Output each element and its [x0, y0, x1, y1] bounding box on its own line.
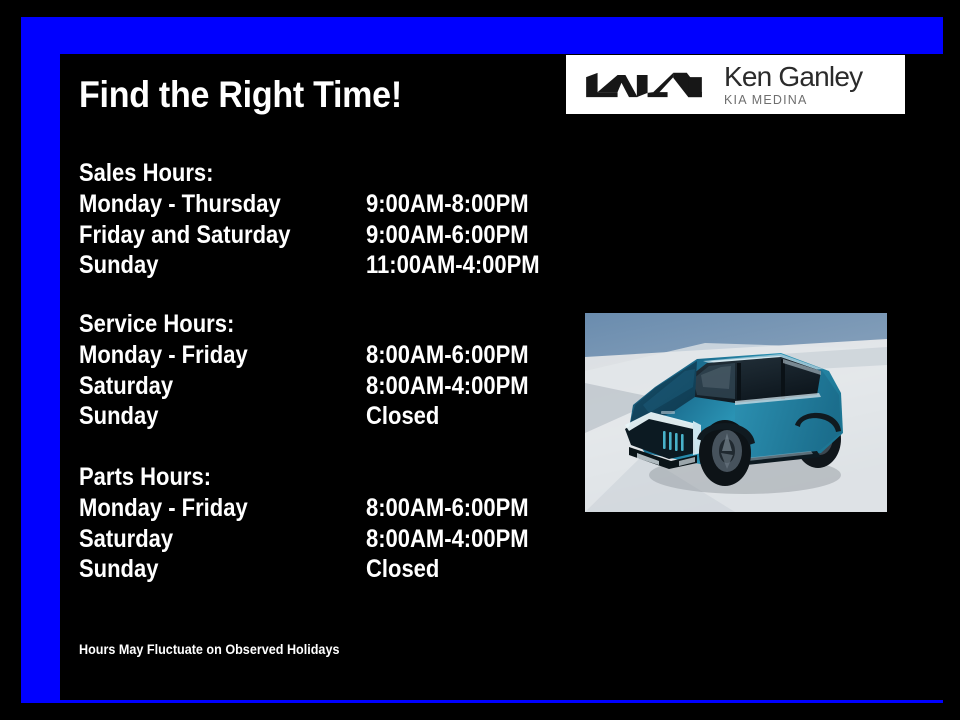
- hours-heading: Parts Hours:: [79, 462, 211, 493]
- hours-row: Sunday 11:00AM-4:00PM: [79, 250, 232, 281]
- hours-time: 8:00AM-4:00PM: [366, 371, 529, 402]
- hours-block-parts: Parts Hours: Monday - Friday 8:00AM-6:00…: [79, 462, 229, 585]
- hours-block-sales: Sales Hours: Monday - Thursday 9:00AM-8:…: [79, 158, 232, 281]
- hours-day: Sunday: [79, 250, 158, 281]
- hours-row: Saturday 8:00AM-4:00PM: [79, 371, 255, 402]
- hours-row: Saturday 8:00AM-4:00PM: [79, 524, 229, 555]
- hours-day: Sunday: [79, 401, 158, 432]
- hours-time: 11:00AM-4:00PM: [366, 250, 540, 281]
- hours-day: Monday - Friday: [79, 493, 248, 524]
- hours-time: 8:00AM-6:00PM: [366, 340, 529, 371]
- hours-block-service: Service Hours: Monday - Friday 8:00AM-6:…: [79, 309, 255, 432]
- hours-heading: Service Hours:: [79, 309, 234, 340]
- hours-time: Closed: [366, 401, 439, 432]
- hours-time: 9:00AM-8:00PM: [366, 189, 529, 220]
- hours-time: 8:00AM-6:00PM: [366, 493, 529, 524]
- hours-row: Friday and Saturday 9:00AM-6:00PM: [79, 220, 232, 251]
- hours-day: Saturday: [79, 371, 173, 402]
- hours-row: Monday - Friday 8:00AM-6:00PM: [79, 493, 229, 524]
- kia-logo-icon: [583, 70, 705, 100]
- dealer-name-block: Ken Ganley KIA MEDINA: [724, 63, 862, 107]
- hours-heading: Sales Hours:: [79, 158, 214, 189]
- hours-day: Monday - Thursday: [79, 189, 281, 220]
- page-title: Find the Right Time!: [79, 74, 402, 116]
- dealer-subtitle: KIA MEDINA: [724, 94, 862, 107]
- vehicle-photo: [585, 313, 887, 512]
- hours-row: Monday - Friday 8:00AM-6:00PM: [79, 340, 255, 371]
- hours-day: Saturday: [79, 524, 173, 555]
- dealer-logo-box: Ken Ganley KIA MEDINA: [566, 55, 905, 114]
- disclaimer-text: Hours May Fluctuate on Observed Holidays: [79, 641, 339, 657]
- hours-day: Friday and Saturday: [79, 220, 291, 251]
- hours-time: 8:00AM-4:00PM: [366, 524, 529, 555]
- slide-root: Find the Right Time! Sales Hours: Monday…: [0, 0, 960, 720]
- hours-day: Sunday: [79, 554, 158, 585]
- hours-time: 9:00AM-6:00PM: [366, 220, 529, 251]
- dealer-name: Ken Ganley: [724, 63, 862, 91]
- hours-day: Monday - Friday: [79, 340, 248, 371]
- hours-time: Closed: [366, 554, 439, 585]
- hours-row: Sunday Closed: [79, 554, 229, 585]
- hours-row: Sunday Closed: [79, 401, 255, 432]
- hours-row: Monday - Thursday 9:00AM-8:00PM: [79, 189, 232, 220]
